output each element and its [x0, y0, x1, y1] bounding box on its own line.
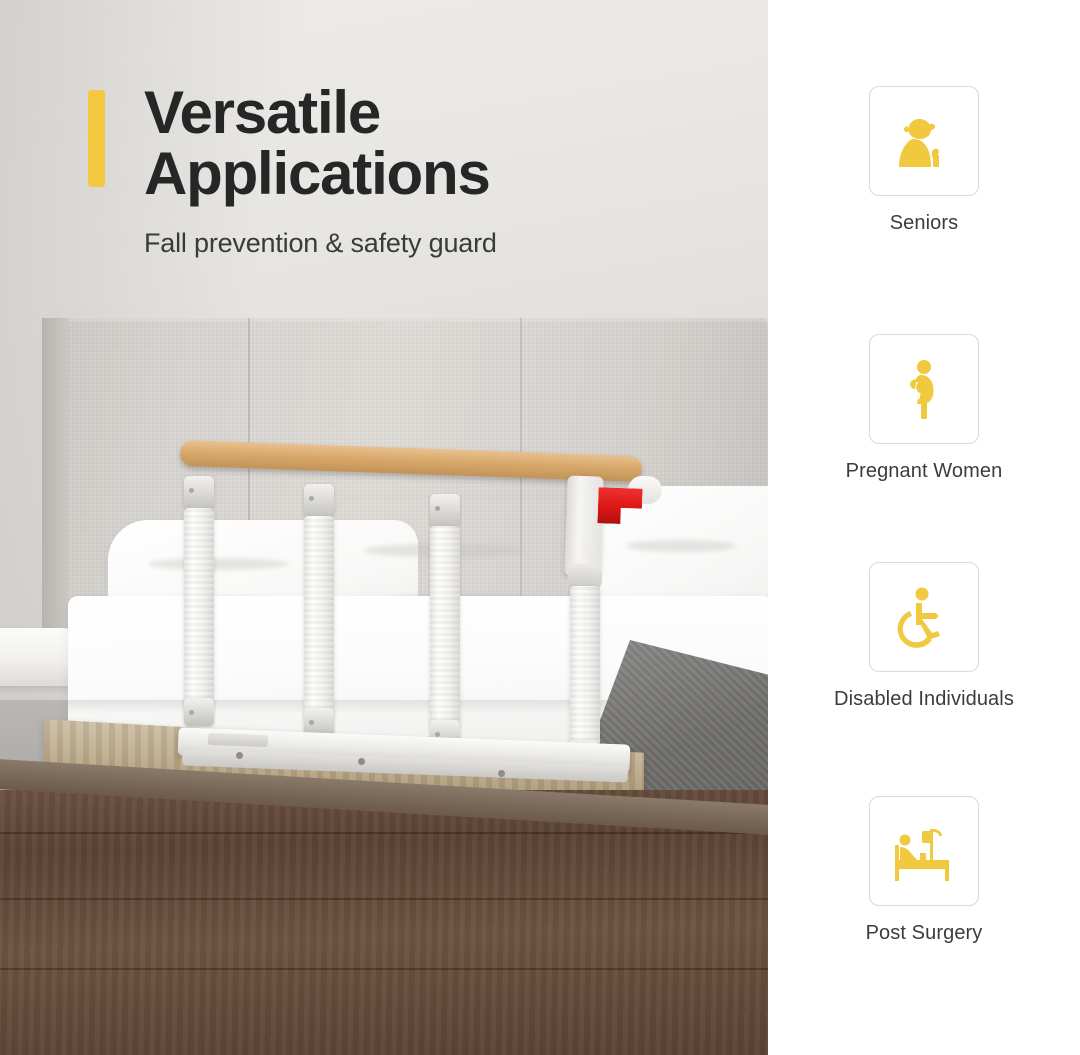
patient-in-hospital-bed-icon: [886, 815, 962, 887]
rail-folding-hinge: [564, 475, 603, 576]
title-line-1: Versatile: [144, 79, 380, 146]
rail-joint-1: [184, 476, 214, 510]
elderly-person-with-cane-icon: [888, 105, 960, 177]
page-subtitle: Fall prevention & safety guard: [144, 228, 728, 259]
base-screw-hole-2: [358, 758, 365, 765]
use-case-post-surgery[interactable]: Post Surgery: [768, 796, 1080, 945]
rail-post-4: [570, 586, 600, 746]
use-case-label: Disabled Individuals: [768, 688, 1080, 711]
use-case-label: Seniors: [768, 212, 1080, 235]
page-title: Versatile Applications: [144, 84, 728, 202]
base-screw-hole-3: [498, 770, 505, 777]
headboard-side-panel: [42, 318, 68, 670]
use-case-disabled-individuals[interactable]: Disabled Individuals: [768, 562, 1080, 711]
use-case-seniors[interactable]: Seniors: [768, 86, 1080, 235]
wheelchair-accessibility-icon: [888, 581, 960, 653]
use-case-card: [869, 334, 979, 444]
headline-block: Versatile Applications Fall prevention &…: [88, 84, 728, 259]
rail-post-1: [184, 508, 214, 704]
rail-joint-base-1: [184, 698, 214, 726]
rail-joint-2: [304, 484, 334, 518]
rail-post-2: [304, 516, 334, 714]
accent-bar: [88, 90, 105, 187]
base-mount-clip-1: [208, 733, 268, 747]
use-case-card: [869, 562, 979, 672]
use-case-sidebar: Seniors Pregnant Women: [768, 0, 1080, 1055]
red-release-lever[interactable]: [597, 487, 642, 525]
rail-post-3: [430, 526, 460, 726]
use-case-label: Post Surgery: [768, 922, 1080, 945]
use-case-card: [869, 796, 979, 906]
use-case-label: Pregnant Women: [768, 460, 1080, 483]
rail-joint-3: [430, 494, 460, 528]
use-case-card: [869, 86, 979, 196]
bed-safety-rail-product: [168, 440, 658, 830]
pregnant-woman-icon: [888, 353, 960, 425]
title-line-2: Applications: [144, 145, 728, 202]
use-case-pregnant-women[interactable]: Pregnant Women: [768, 334, 1080, 483]
base-screw-hole-1: [236, 752, 243, 759]
product-feature-banner: Versatile Applications Fall prevention &…: [0, 0, 1080, 1055]
